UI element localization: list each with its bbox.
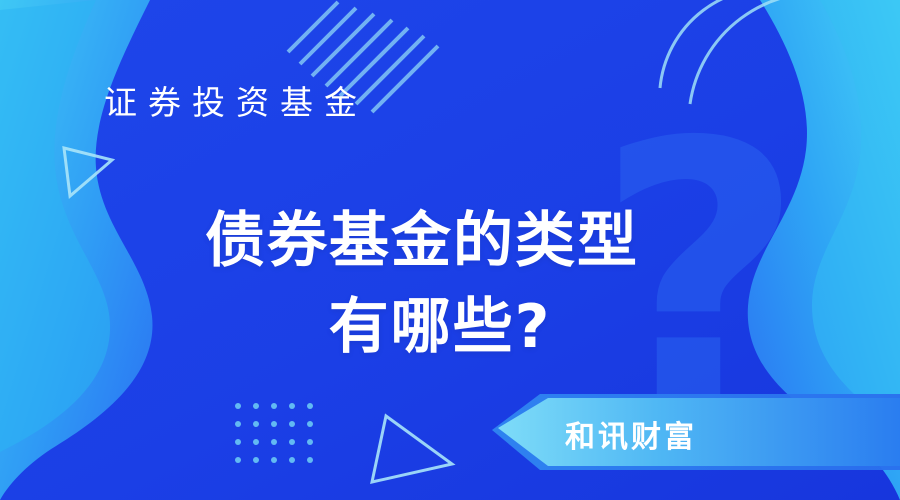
poster-canvas: ? [0,0,900,500]
headline-line-2: 有哪些? [0,278,890,365]
brand-label: 和讯财富 [565,412,697,456]
headline-line-1: 债券基金的类型 [0,192,872,279]
eyebrow-title: 证券投资基金 [104,76,368,124]
text-layer: 证券投资基金 债券基金的类型 有哪些? 和讯财富 [0,0,900,500]
